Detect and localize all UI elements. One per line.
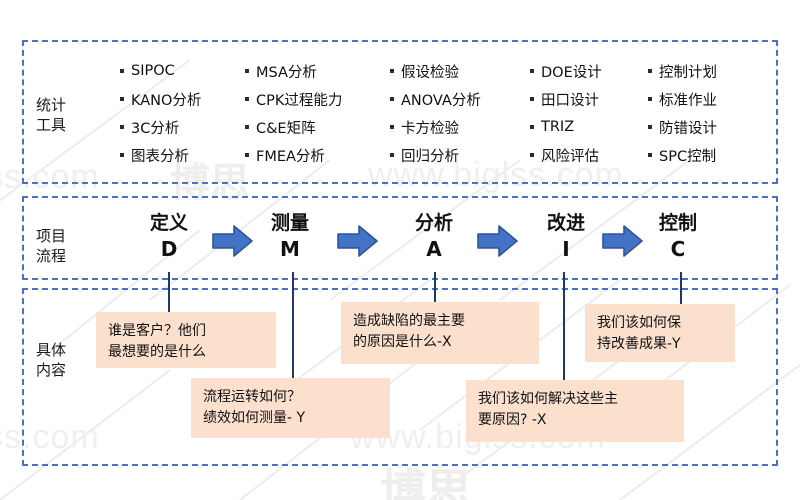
bullet-icon [245, 69, 249, 73]
tools-grid: SIPOC KANO分析 3C分析 图表分析 MSA分析 CPK过程能力 C&E… [120, 57, 770, 169]
tool-item: ANOVA分析 [390, 85, 530, 113]
phase-name-cn: 分析 [402, 212, 466, 234]
phase-name-cn: 改进 [534, 212, 598, 234]
bullet-icon [648, 69, 652, 73]
tool-label: 防错设计 [659, 117, 717, 138]
tool-label: C&E矩阵 [256, 117, 316, 138]
tool-item: 控制计划 [648, 57, 770, 85]
arrow-icon [337, 224, 379, 258]
tools-column-4: DOE设计 田口设计 TRIZ 风险评估 [530, 57, 648, 169]
tool-label: FMEA分析 [256, 145, 325, 166]
phase-letter: I [534, 237, 598, 261]
tool-item: FMEA分析 [245, 141, 390, 169]
tool-label: CPK过程能力 [256, 89, 342, 110]
connector-line-analyze [434, 272, 436, 302]
tool-item: TRIZ [530, 113, 648, 141]
bullet-icon [530, 97, 534, 101]
connector-line-measure [292, 272, 294, 378]
bullet-icon [530, 69, 534, 73]
bullet-icon [245, 97, 249, 101]
tool-item: 假设检验 [390, 57, 530, 85]
bullet-icon [390, 97, 394, 101]
tool-item: 回归分析 [390, 141, 530, 169]
tool-label: 假设检验 [401, 61, 459, 82]
tool-label: 图表分析 [131, 145, 189, 166]
tool-item: 3C分析 [120, 113, 245, 141]
bullet-icon [530, 153, 534, 157]
phase-name-cn: 控制 [646, 212, 710, 234]
tool-label: 卡方检验 [401, 117, 459, 138]
tool-label: ANOVA分析 [401, 89, 481, 110]
tool-item: MSA分析 [245, 57, 390, 85]
phase-measure: 测量 M [258, 212, 322, 261]
bullet-icon [120, 153, 124, 157]
tool-label: 风险评估 [541, 145, 599, 166]
tool-item: DOE设计 [530, 57, 648, 85]
tool-item: SPC控制 [648, 141, 770, 169]
tool-label: SPC控制 [659, 145, 716, 166]
phase-letter: M [258, 237, 322, 261]
phase-name-cn: 定义 [137, 212, 201, 234]
tools-column-3: 假设检验 ANOVA分析 卡方检验 回归分析 [390, 57, 530, 169]
tool-label: SIPOC [131, 63, 175, 79]
row-label-statistical-tools: 统计 工具 [36, 95, 66, 135]
connector-line-improve [563, 272, 565, 380]
arrow-icon [477, 224, 519, 258]
tool-label: 控制计划 [659, 61, 717, 82]
phase-name-cn: 测量 [258, 212, 322, 234]
row-label-project-flow: 项目 流程 [36, 226, 66, 266]
tool-label: MSA分析 [256, 61, 317, 82]
phase-define: 定义 D [137, 212, 201, 261]
tool-label: KANO分析 [131, 89, 201, 110]
bullet-icon [390, 125, 394, 129]
phase-letter: D [137, 237, 201, 261]
tool-item: C&E矩阵 [245, 113, 390, 141]
bullet-icon [530, 125, 534, 129]
connector-line-control [680, 272, 682, 304]
tool-item: 防错设计 [648, 113, 770, 141]
content-box-define: 谁是客户？他们 最想要的是什么 [96, 312, 276, 368]
bullet-icon [120, 97, 124, 101]
tools-column-1: SIPOC KANO分析 3C分析 图表分析 [120, 57, 245, 169]
bullet-icon [120, 69, 124, 73]
tool-label: 标准作业 [659, 89, 717, 110]
tool-label: 回归分析 [401, 145, 459, 166]
arrow-icon [602, 224, 644, 258]
tool-item: 图表分析 [120, 141, 245, 169]
bullet-icon [245, 153, 249, 157]
tool-item: 风险评估 [530, 141, 648, 169]
tool-item: SIPOC [120, 57, 245, 85]
phase-control: 控制 C [646, 212, 710, 261]
content-box-improve: 我们该如何解决这些主 要原因? -X [466, 380, 684, 442]
bullet-icon [390, 153, 394, 157]
phase-analyze: 分析 A [402, 212, 466, 261]
tool-item: 标准作业 [648, 85, 770, 113]
row-label-concrete-content: 具体 内容 [36, 340, 66, 380]
arrow-icon [212, 224, 254, 258]
tool-label: DOE设计 [541, 61, 602, 82]
tool-item: 田口设计 [530, 85, 648, 113]
bullet-icon [245, 125, 249, 129]
phase-letter: A [402, 237, 466, 261]
bullet-icon [648, 153, 652, 157]
content-box-control: 我们该如何保 持改善成果-Y [585, 304, 735, 362]
tool-label: 3C分析 [131, 117, 179, 138]
phase-letter: C [646, 237, 710, 261]
tools-column-2: MSA分析 CPK过程能力 C&E矩阵 FMEA分析 [245, 57, 390, 169]
phase-improve: 改进 I [534, 212, 598, 261]
connector-line-define [168, 272, 170, 312]
content-box-analyze: 造成缺陷的最主要 的原因是什么-X [341, 302, 539, 364]
content-box-measure: 流程运转如何？ 绩效如何测量- Y [191, 378, 390, 438]
tool-item: KANO分析 [120, 85, 245, 113]
bullet-icon [390, 69, 394, 73]
tool-label: 田口设计 [541, 89, 599, 110]
bullet-icon [648, 97, 652, 101]
bullet-icon [120, 125, 124, 129]
tools-column-5: 控制计划 标准作业 防错设计 SPC控制 [648, 57, 770, 169]
bullet-icon [648, 125, 652, 129]
tool-label: TRIZ [541, 119, 574, 135]
tool-item: CPK过程能力 [245, 85, 390, 113]
diagram-canvas: ss.com www.biglss.com ss.com www.biglss.… [0, 0, 800, 500]
tool-item: 卡方检验 [390, 113, 530, 141]
